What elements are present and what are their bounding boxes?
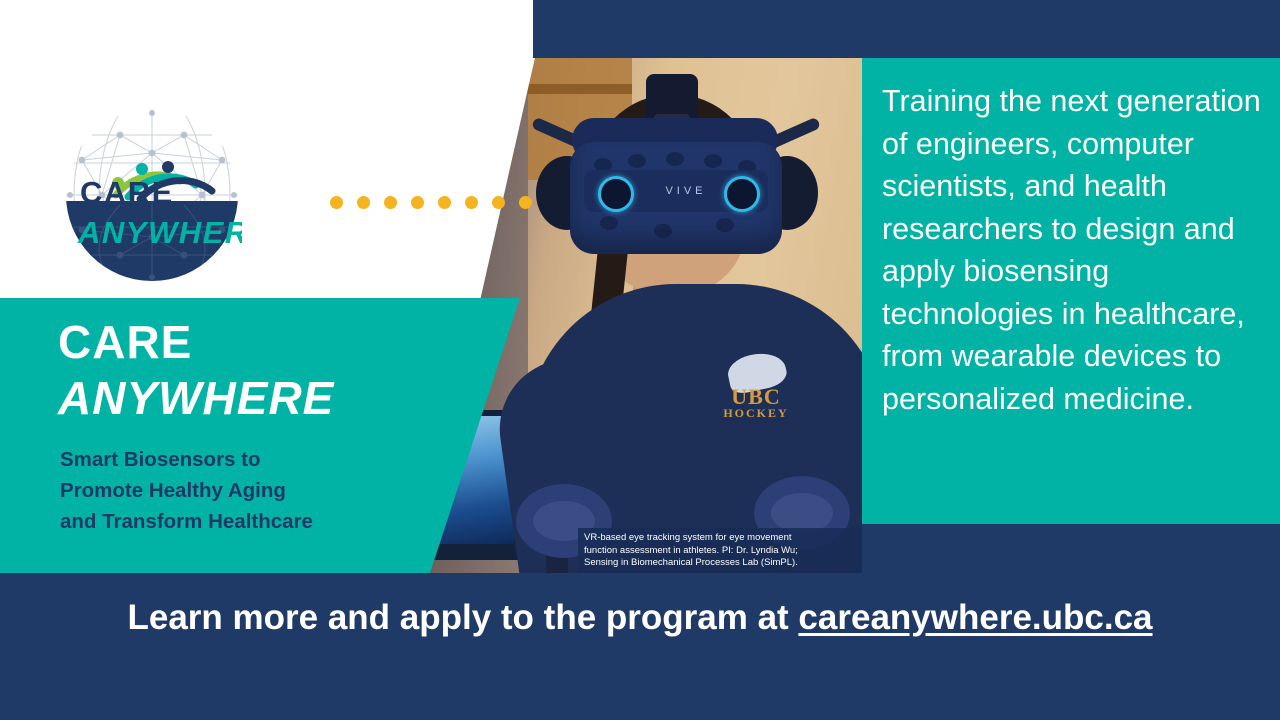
dot-4 bbox=[411, 196, 424, 209]
photo-caption: VR-based eye tracking system for eye mov… bbox=[578, 528, 862, 575]
headline-subtitle: Smart Biosensors to Promote Healthy Agin… bbox=[60, 444, 390, 537]
subtitle-line-2: Promote Healthy Aging bbox=[60, 475, 390, 506]
crest-hockey-text: HOCKEY bbox=[714, 406, 798, 421]
subtitle-line-1: Smart Biosensors to bbox=[60, 444, 390, 475]
headset-brand-label: VIVE bbox=[640, 182, 732, 200]
program-description-panel: Training the next generation of engineer… bbox=[862, 58, 1280, 524]
top-navy-bar bbox=[533, 0, 1280, 58]
cta-lead-text: Learn more and apply to the program at bbox=[127, 598, 798, 637]
dot-5 bbox=[438, 196, 451, 209]
dot-2 bbox=[357, 196, 370, 209]
program-description-text: Training the next generation of engineer… bbox=[882, 80, 1264, 420]
care-anywhere-globe-logo: CARE ANYWHERE bbox=[62, 105, 242, 285]
dot-3 bbox=[384, 196, 397, 209]
cta-url-link[interactable]: careanywhere.ubc.ca bbox=[798, 598, 1152, 637]
caption-line-3: Sensing in Biomechanical Processes Lab (… bbox=[584, 557, 856, 570]
decorative-dot-row bbox=[330, 196, 530, 210]
svg-text:ANYWHERE: ANYWHERE bbox=[77, 215, 242, 250]
caption-line-1: VR-based eye tracking system for eye mov… bbox=[584, 532, 856, 545]
dot-7 bbox=[492, 196, 505, 209]
photo-background-book bbox=[462, 82, 528, 96]
dot-6 bbox=[465, 196, 478, 209]
headset-left-lens-icon bbox=[598, 176, 634, 212]
poster-canvas: UBC HOCKEY VIVE bbox=[0, 0, 1280, 720]
right-navy-strip bbox=[862, 524, 1280, 573]
call-to-action-text: Learn more and apply to the program at c… bbox=[0, 598, 1280, 638]
call-to-action-banner bbox=[0, 573, 1280, 720]
headline-care: CARE bbox=[58, 318, 192, 366]
svg-text:CARE: CARE bbox=[80, 175, 174, 210]
dot-1 bbox=[330, 196, 343, 209]
ubc-hockey-crest: UBC HOCKEY bbox=[714, 354, 798, 426]
dot-8 bbox=[519, 196, 532, 209]
subtitle-line-3: and Transform Healthcare bbox=[60, 506, 390, 537]
caption-line-2: function assessment in athletes. PI: Dr.… bbox=[584, 545, 856, 558]
photo-background-shelf-edge bbox=[452, 84, 632, 94]
headline-anywhere: ANYWHERE bbox=[58, 374, 334, 422]
